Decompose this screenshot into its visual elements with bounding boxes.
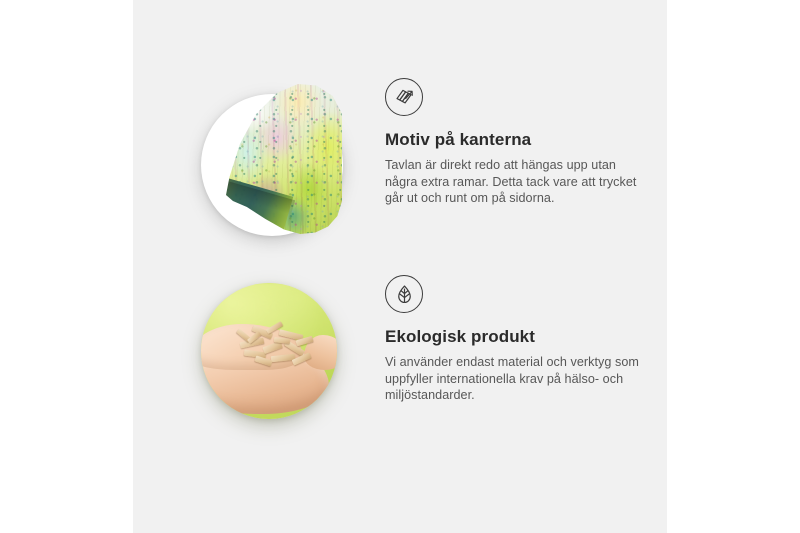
leaf-icon [385, 275, 423, 313]
feature-body: Vi använder endast material och verktyg … [385, 354, 647, 403]
wood-chip-pile [236, 324, 315, 373]
feature-heading: Ekologisk produkt [385, 327, 653, 347]
feature-row-ekologisk-produkt: Ekologisk produkt Vi använder endast mat… [133, 275, 667, 445]
hands-holding-wood-chips-photo [193, 275, 343, 435]
feature-text-motiv-pa-kanterna: Motiv på kanterna Tavlan är direkt redo … [385, 78, 653, 207]
wrapped-canvas-edge-icon [385, 78, 423, 116]
feature-body: Tavlan är direkt redo att hängas upp uta… [385, 157, 647, 206]
feature-heading: Motiv på kanterna [385, 130, 653, 150]
product-feature-infographic: Motiv på kanterna Tavlan är direkt redo … [0, 0, 800, 533]
feature-text-ekologisk-produkt: Ekologisk produkt Vi använder endast mat… [385, 275, 653, 404]
feature-panel: Motiv på kanterna Tavlan är direkt redo … [133, 0, 667, 533]
circular-photo-mask [201, 283, 337, 419]
feature-row-motiv-pa-kanterna: Motiv på kanterna Tavlan är direkt redo … [133, 78, 667, 248]
canvas-corner-on-white-disc-photo [193, 78, 343, 238]
